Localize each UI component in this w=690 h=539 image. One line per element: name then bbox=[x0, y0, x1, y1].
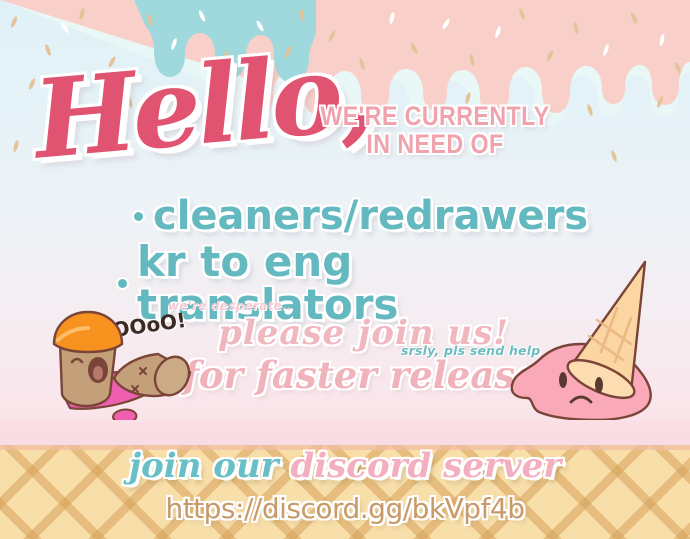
list-item: cleaners/redrawers bbox=[134, 196, 598, 238]
role-label-cleaners: cleaners/redrawers bbox=[153, 196, 588, 238]
subtitle-line-1: WE'RE CURRENTLY bbox=[310, 103, 559, 131]
cta-discord-server-text: discord server bbox=[290, 446, 561, 486]
dropped-ice-cream-cone-icon bbox=[22, 300, 207, 425]
cta-join-our-text: join our bbox=[129, 446, 291, 486]
melted-ice-cream-sad-icon bbox=[505, 248, 680, 433]
bullet-dot-icon bbox=[134, 212, 143, 221]
announcement-poster: Hello, WE'RE CURRENTLY IN NEED OF cleane… bbox=[0, 0, 690, 539]
footer-pink-band bbox=[0, 420, 690, 445]
discord-invite-url[interactable]: https://discord.gg/bkVpf4b bbox=[0, 492, 690, 525]
bullet-dot-icon bbox=[118, 279, 127, 288]
headline-faster-release: for faster release! bbox=[183, 353, 555, 397]
subtitle-need: WE'RE CURRENTLY IN NEED OF bbox=[310, 103, 559, 158]
subtitle-line-2: IN NEED OF bbox=[310, 131, 559, 159]
discord-cta[interactable]: join our discord server bbox=[0, 446, 690, 486]
